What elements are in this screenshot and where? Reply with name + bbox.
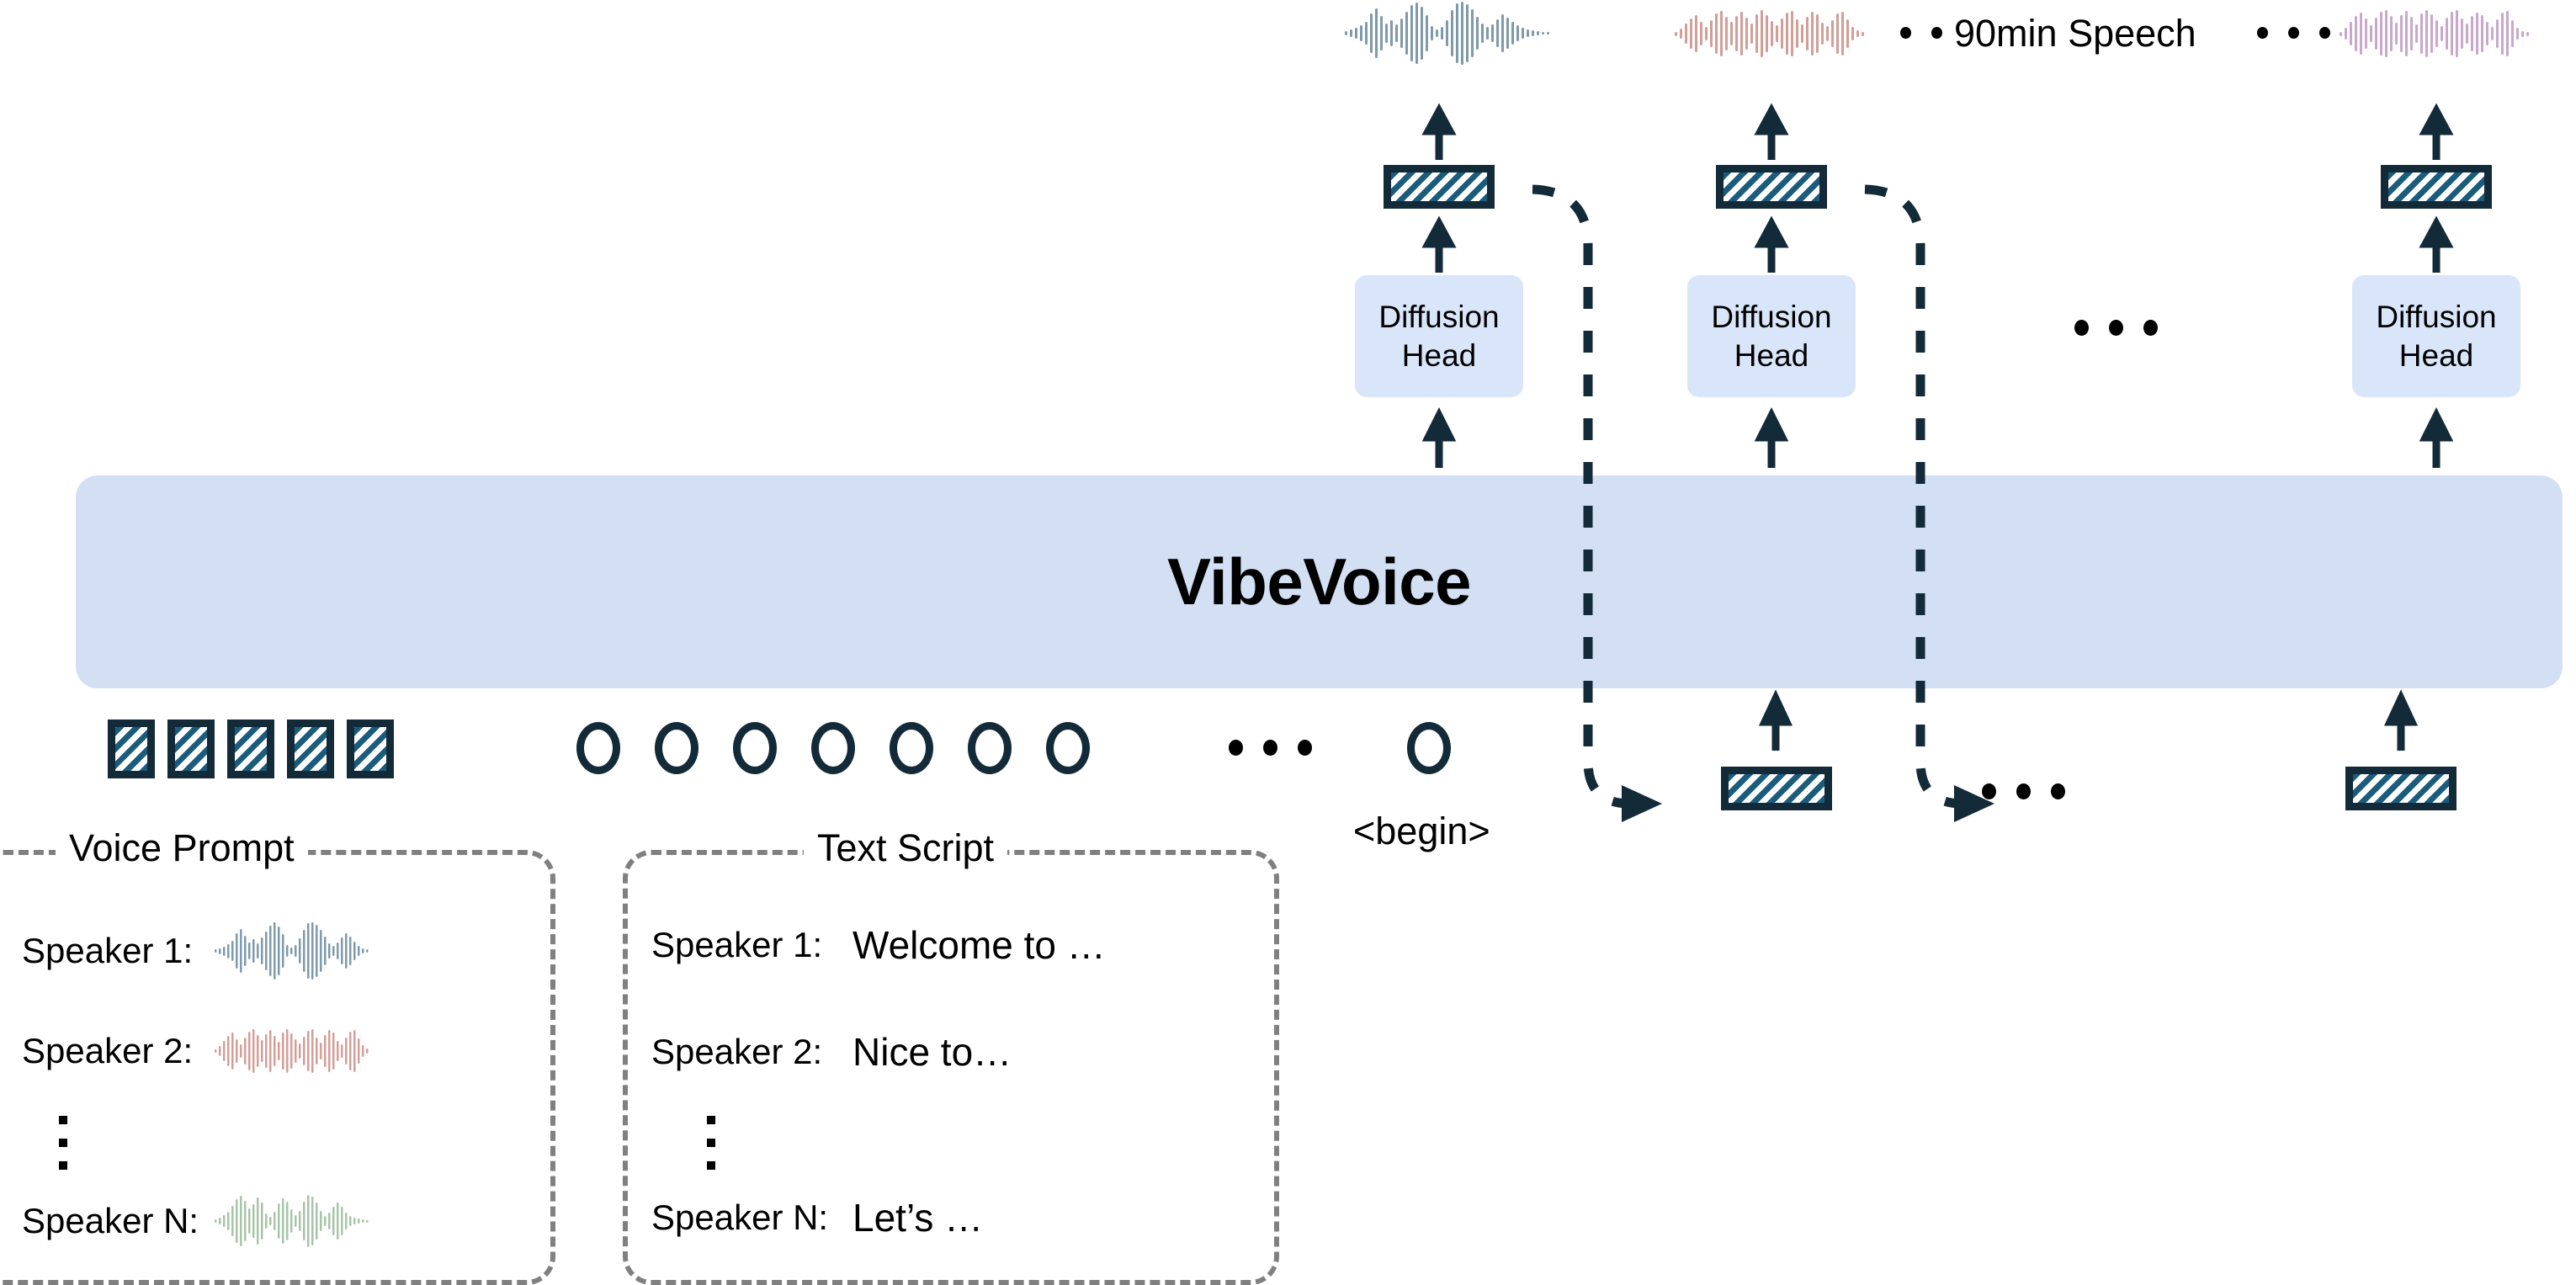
text-script-speaker-label: Speaker 2:	[651, 1032, 832, 1072]
dot	[2257, 27, 2268, 39]
text-script-row-2: Speaker 2: Nice to…	[651, 1029, 1012, 1075]
dot	[707, 1116, 715, 1124]
arrow-token-to-waveform-1	[1426, 111, 1452, 160]
diffusion-head-ellipsis	[2074, 320, 2158, 336]
generated-latent-token-2	[2345, 767, 2456, 810]
text-script-line: Nice to…	[852, 1029, 1012, 1075]
diffusion-head-line-1: Diffusion	[1378, 298, 1499, 336]
voice-prompt-row-1: Speaker 1:	[22, 922, 370, 980]
feedback-connector-1	[1527, 181, 1662, 820]
dot	[1931, 27, 1942, 39]
dot	[707, 1139, 715, 1147]
arrow-generated-token-to-bar-2	[2388, 698, 2414, 751]
text-script-speaker-label: Speaker N:	[651, 1197, 832, 1238]
text-token-4	[811, 722, 855, 774]
voice-prompt-token-4	[287, 719, 334, 778]
voice-prompt-token-2	[167, 719, 215, 778]
dot	[2016, 783, 2031, 799]
dot	[59, 1139, 67, 1147]
diffusion-head-line-2: Head	[1734, 337, 1809, 374]
arrow-bar-to-head-2	[1759, 416, 1784, 468]
diffusion-head-3[interactable]: Diffusion Head	[2352, 275, 2520, 397]
arrow-token-to-waveform-2	[1759, 111, 1784, 160]
output-waveform-speaker-1	[1345, 2, 1555, 65]
dot	[2319, 27, 2330, 39]
text-script-speaker-label: Speaker 1:	[651, 925, 832, 965]
dot	[1900, 27, 1911, 39]
vibevoice-model-bar[interactable]: VibeVoice	[76, 475, 2563, 688]
speech-duration-label: 90min Speech	[1954, 12, 2196, 56]
voice-prompt-waveform-2	[215, 1029, 370, 1073]
dot	[2143, 320, 2158, 336]
output-ellipsis-left	[1900, 27, 1942, 39]
text-script-line: Welcome to …	[852, 922, 1106, 968]
text-script-row-1: Speaker 1: Welcome to …	[651, 922, 1106, 968]
voice-prompt-title: Voice Prompt	[56, 826, 308, 870]
voice-prompt-waveform-3	[215, 1195, 370, 1247]
dot	[2074, 320, 2089, 336]
output-ellipsis-right	[2257, 27, 2330, 39]
text-script-title: Text Script	[804, 826, 1007, 870]
voice-prompt-group: Voice Prompt Speaker 1:	[0, 850, 555, 1285]
generated-latent-token-1	[1721, 767, 1832, 810]
voice-prompt-token-3	[227, 719, 274, 778]
voice-prompt-waveform-1	[215, 922, 370, 980]
latent-token-output-3	[2381, 165, 2492, 209]
text-token-6	[968, 722, 1012, 774]
dot	[1229, 740, 1243, 756]
diffusion-head-line-2: Head	[1402, 337, 1476, 374]
output-waveform-speaker-2	[1675, 10, 1868, 57]
arrow-bar-to-head-3	[2424, 416, 2449, 468]
dot	[59, 1161, 67, 1170]
diffusion-head-line-1: Diffusion	[1711, 298, 1831, 336]
text-script-row-3: Speaker N: Let’s …	[651, 1195, 983, 1240]
dot	[59, 1116, 67, 1124]
text-token-5	[890, 722, 933, 774]
text-script-continuation	[707, 1116, 715, 1170]
text-token-1	[576, 722, 620, 774]
dot	[1298, 740, 1312, 756]
arrow-bar-to-head-1	[1426, 416, 1452, 468]
begin-token-label: <begin>	[1353, 810, 1490, 853]
text-token-7	[1046, 722, 1090, 774]
feedback-connector-2	[1860, 181, 1994, 820]
model-name-label: VibeVoice	[1167, 544, 1471, 620]
dot	[2109, 320, 2123, 336]
voice-prompt-token-5	[347, 719, 394, 778]
voice-prompt-continuation	[59, 1116, 67, 1170]
begin-token-circle	[1407, 722, 1451, 774]
dot	[2051, 783, 2065, 799]
latent-token-output-1	[1384, 165, 1495, 209]
voice-prompt-speaker-label: Speaker 2:	[22, 1031, 203, 1071]
diffusion-head-2[interactable]: Diffusion Head	[1687, 275, 1856, 397]
latent-token-output-2	[1716, 165, 1827, 209]
arrow-token-to-waveform-3	[2424, 111, 2449, 160]
text-script-group: Text Script Speaker 1: Welcome to … Spea…	[623, 850, 1279, 1285]
text-token-2	[655, 722, 698, 774]
arrow-generated-token-to-bar-1	[1763, 698, 1788, 751]
arrow-head-to-token-2	[1759, 224, 1784, 273]
arrow-head-to-token-3	[2424, 224, 2449, 273]
text-token-3	[733, 722, 777, 774]
dot	[707, 1161, 715, 1170]
text-token-ellipsis	[1229, 740, 1312, 756]
voice-prompt-speaker-label: Speaker N:	[22, 1201, 203, 1241]
dot	[2288, 27, 2299, 39]
voice-prompt-speaker-label: Speaker 1:	[22, 931, 203, 971]
diffusion-head-line-2: Head	[2399, 337, 2473, 374]
voice-prompt-row-2: Speaker 2:	[22, 1029, 370, 1073]
text-script-line: Let’s …	[852, 1195, 983, 1240]
arrow-head-to-token-1	[1426, 224, 1452, 273]
voice-prompt-token-1	[108, 719, 155, 778]
dot	[1263, 740, 1277, 756]
output-waveform-speaker-n	[2340, 10, 2533, 57]
voice-prompt-row-3: Speaker N:	[22, 1195, 370, 1247]
diffusion-head-1[interactable]: Diffusion Head	[1355, 275, 1523, 397]
diffusion-head-line-1: Diffusion	[2376, 298, 2496, 336]
figure-canvas: 90min Speech	[0, 0, 2576, 1285]
